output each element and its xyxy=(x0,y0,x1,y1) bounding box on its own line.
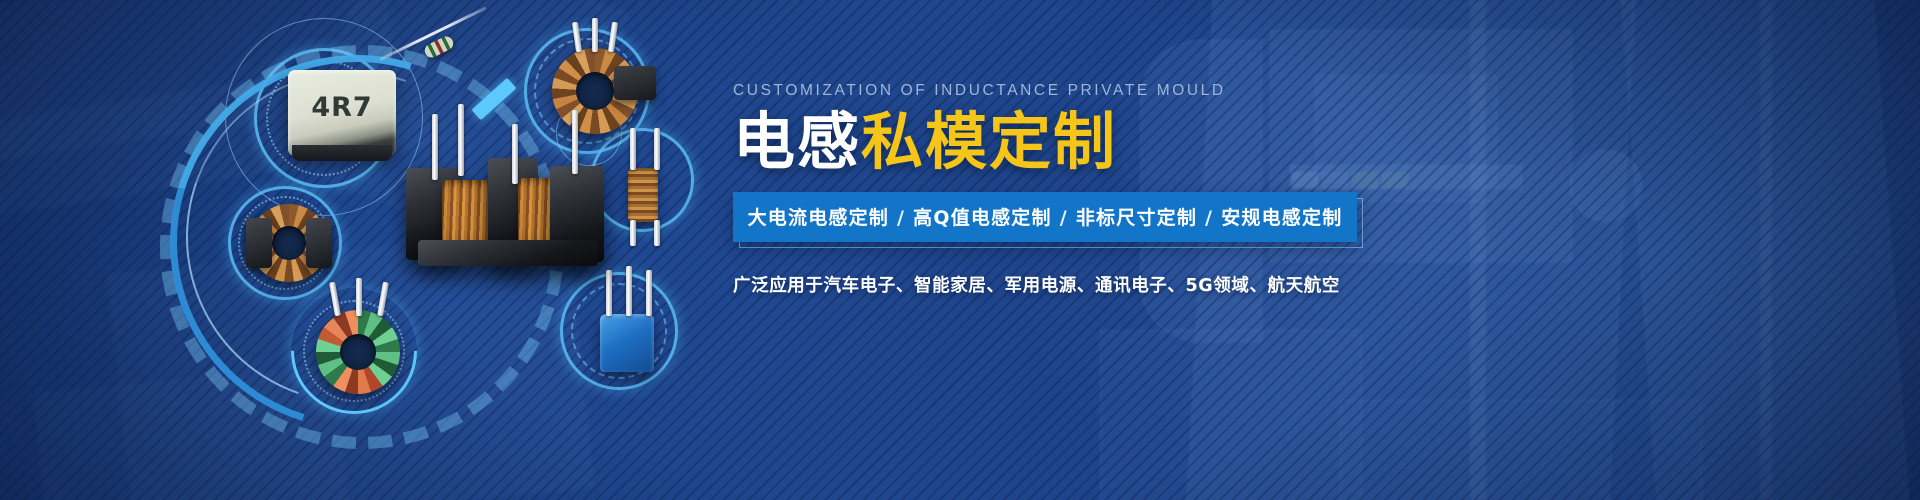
product-green-toroidal-choke xyxy=(316,310,400,394)
feature-separator: / xyxy=(1052,207,1076,229)
product-ee-core-transformer xyxy=(392,110,622,290)
feature-separator: / xyxy=(1197,207,1221,229)
banner-eyebrow-english: CUSTOMIZATION OF INDUCTANCE PRIVATE MOUL… xyxy=(733,82,1433,100)
product-collage: 4R7 xyxy=(0,0,720,500)
product-flat-wire-toroid xyxy=(250,204,328,282)
feature-item-4[interactable]: 安规电感定制 xyxy=(1221,207,1342,229)
feature-item-2[interactable]: 高Q值电感定制 xyxy=(913,207,1052,229)
feature-item-3[interactable]: 非标尺寸定制 xyxy=(1076,207,1197,229)
product-blue-radial-choke xyxy=(592,300,662,390)
feature-bar: 大电流电感定制/高Q值电感定制/非标尺寸定制/安规电感定制 xyxy=(733,192,1357,242)
product-rod-core-choke xyxy=(616,150,676,246)
headline-part-white: 电感 xyxy=(733,105,861,178)
smd-inductor-part-label: 4R7 xyxy=(288,92,396,123)
headline-part-yellow: 私模定制 xyxy=(861,105,1117,178)
product-smd-power-inductor: 4R7 xyxy=(288,70,396,156)
feature-separator: / xyxy=(889,207,913,229)
feature-bar-fill: 大电流电感定制/高Q值电感定制/非标尺寸定制/安规电感定制 xyxy=(733,192,1357,242)
banner-content: CUSTOMIZATION OF INDUCTANCE PRIVATE MOUL… xyxy=(733,82,1433,297)
banner-application-subline: 广泛应用于汽车电子、智能家居、军用电源、通讯电子、5G领域、航天航空 xyxy=(733,272,1433,297)
feature-bar-text: 大电流电感定制/高Q值电感定制/非标尺寸定制/安规电感定制 xyxy=(748,203,1343,230)
feature-item-1[interactable]: 大电流电感定制 xyxy=(748,207,889,229)
hero-banner: 4R7 xyxy=(0,0,1920,500)
product-axial-inductor xyxy=(380,22,500,76)
banner-headline: 电感私模定制 xyxy=(733,109,1433,175)
